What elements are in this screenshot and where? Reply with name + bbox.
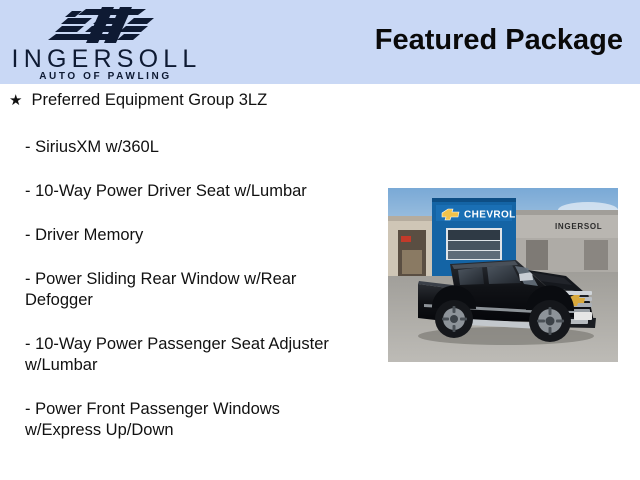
logo-wordmark: INGERSOLL [4,46,204,72]
logo-tagline: AUTO OF PAWLING [4,71,204,82]
vehicle-photo: CHEVROLET INGERSOL [388,188,618,362]
feature-list: ★Preferred Equipment Group 3LZ- SiriusXM… [0,90,380,464]
dealer-logo: INGERSOLL AUTO OF PAWLING [4,2,204,82]
page-title: Featured Package [375,24,623,57]
feature-item-sub: - Power Sliding Rear Window w/Rear Defog… [0,269,355,311]
feature-item-label: Preferred Equipment Group 3LZ [31,90,267,111]
feature-item-sub: - Driver Memory [0,225,355,246]
ingersoll-winged-checkered-flag-emblem [42,5,162,45]
feature-item-primary: ★Preferred Equipment Group 3LZ [0,90,380,111]
feature-item-sub: - SiriusXM w/360L [0,137,355,158]
feature-item-sub: - 10-Way Power Passenger Seat Adjuster w… [0,334,355,376]
feature-item-sub: - 10-Way Power Driver Seat w/Lumbar [0,181,355,202]
feature-item-sub: - Power Front Passenger Windows w/Expres… [0,399,355,441]
star-bullet-icon: ★ [9,90,22,111]
svg-text:INGERSOL: INGERSOL [555,222,602,231]
